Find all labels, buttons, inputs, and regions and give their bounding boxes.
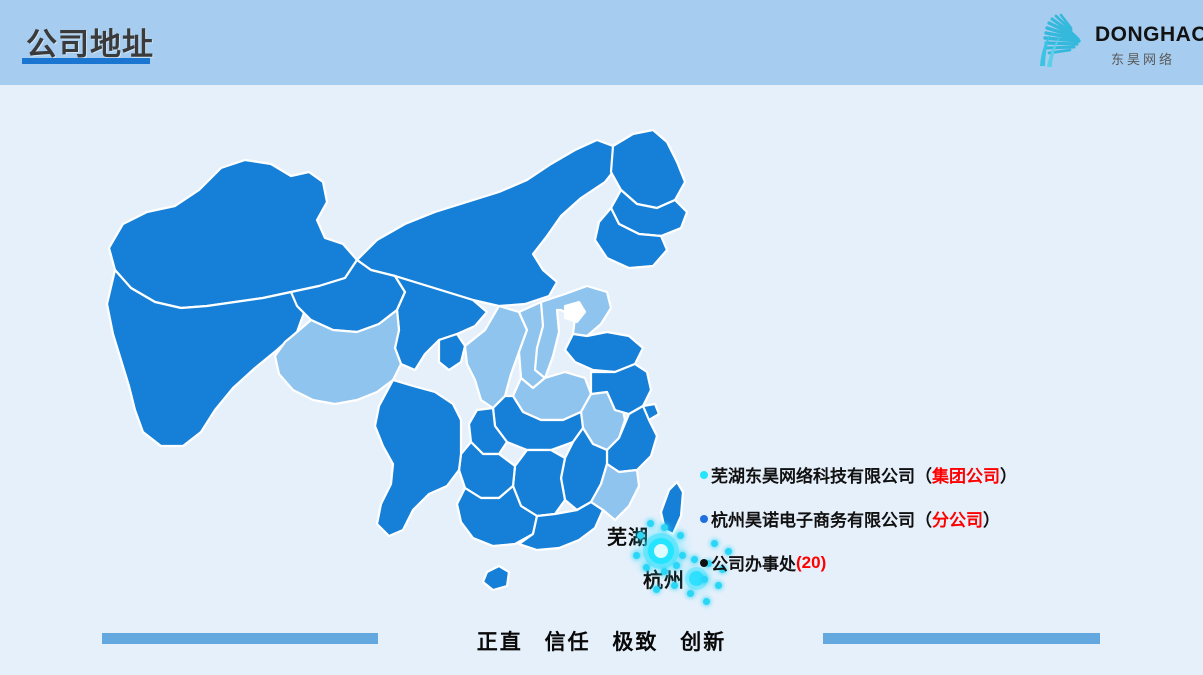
office-dot[interactable] bbox=[687, 590, 694, 597]
office-dot[interactable] bbox=[653, 586, 660, 593]
province-hainan bbox=[483, 566, 509, 590]
office-dot[interactable] bbox=[661, 568, 668, 575]
legend-item-offices: 公司办事处 (20) bbox=[700, 550, 1030, 575]
map-marker-wuhu-core bbox=[654, 544, 668, 558]
legend-open-paren: （ bbox=[915, 506, 932, 531]
office-dot[interactable] bbox=[643, 564, 650, 571]
legend-accent: (20) bbox=[796, 553, 826, 573]
feather-wing-icon bbox=[1031, 8, 1093, 72]
slogan-word: 极致 bbox=[612, 631, 658, 654]
legend-accent: 分公司 bbox=[932, 506, 983, 531]
legend-label: 芜湖东昊网络科技有限公司 bbox=[711, 462, 915, 487]
slogan-word: 正直 bbox=[477, 631, 523, 654]
office-dot[interactable] bbox=[661, 524, 668, 531]
legend-label: 公司办事处 bbox=[711, 550, 796, 575]
legend-bullet-black bbox=[700, 559, 708, 567]
office-dot[interactable] bbox=[673, 562, 680, 569]
legend-accent: 集团公司 bbox=[932, 462, 1000, 487]
slogan-word: 创新 bbox=[680, 631, 726, 654]
legend-item-group-company: 芜湖东昊网络科技有限公司 （ 集团公司 ） bbox=[700, 462, 1030, 487]
office-dot[interactable] bbox=[633, 552, 640, 559]
footer-slogan: 正直 信任 极致 创新 bbox=[0, 626, 1203, 656]
office-dot[interactable] bbox=[691, 556, 698, 563]
office-dot[interactable] bbox=[703, 598, 710, 605]
legend-bullet-cyan bbox=[700, 471, 708, 479]
legend-label: 杭州昊诺电子商务有限公司 bbox=[711, 506, 915, 531]
office-dot[interactable] bbox=[647, 520, 654, 527]
legend-item-branch-company: 杭州昊诺电子商务有限公司 （ 分公司 ） bbox=[700, 506, 1030, 531]
office-dot[interactable] bbox=[637, 532, 644, 539]
office-dot[interactable] bbox=[679, 552, 686, 559]
office-dot[interactable] bbox=[671, 582, 678, 589]
legend: 芜湖东昊网络科技有限公司 （ 集团公司 ） 杭州昊诺电子商务有限公司 （ 分公司… bbox=[700, 462, 1030, 594]
legend-bullet-blue bbox=[700, 515, 708, 523]
legend-close-paren: ） bbox=[1000, 462, 1017, 487]
legend-open-paren: （ bbox=[915, 462, 932, 487]
logo-name-en: DONGHAO bbox=[1095, 23, 1203, 47]
company-logo: DONGHAO 东昊网络 bbox=[1031, 6, 1191, 76]
map-container: 芜湖 杭州 bbox=[95, 120, 715, 610]
legend-close-paren: ） bbox=[983, 506, 1000, 531]
header-band bbox=[0, 0, 1203, 85]
office-dot[interactable] bbox=[677, 532, 684, 539]
province-ningxia bbox=[439, 334, 465, 370]
title-underline bbox=[22, 58, 150, 64]
slogan-word: 信任 bbox=[545, 631, 591, 654]
province-yunnan bbox=[375, 380, 461, 536]
logo-name-cn: 东昊网络 bbox=[1111, 49, 1175, 68]
